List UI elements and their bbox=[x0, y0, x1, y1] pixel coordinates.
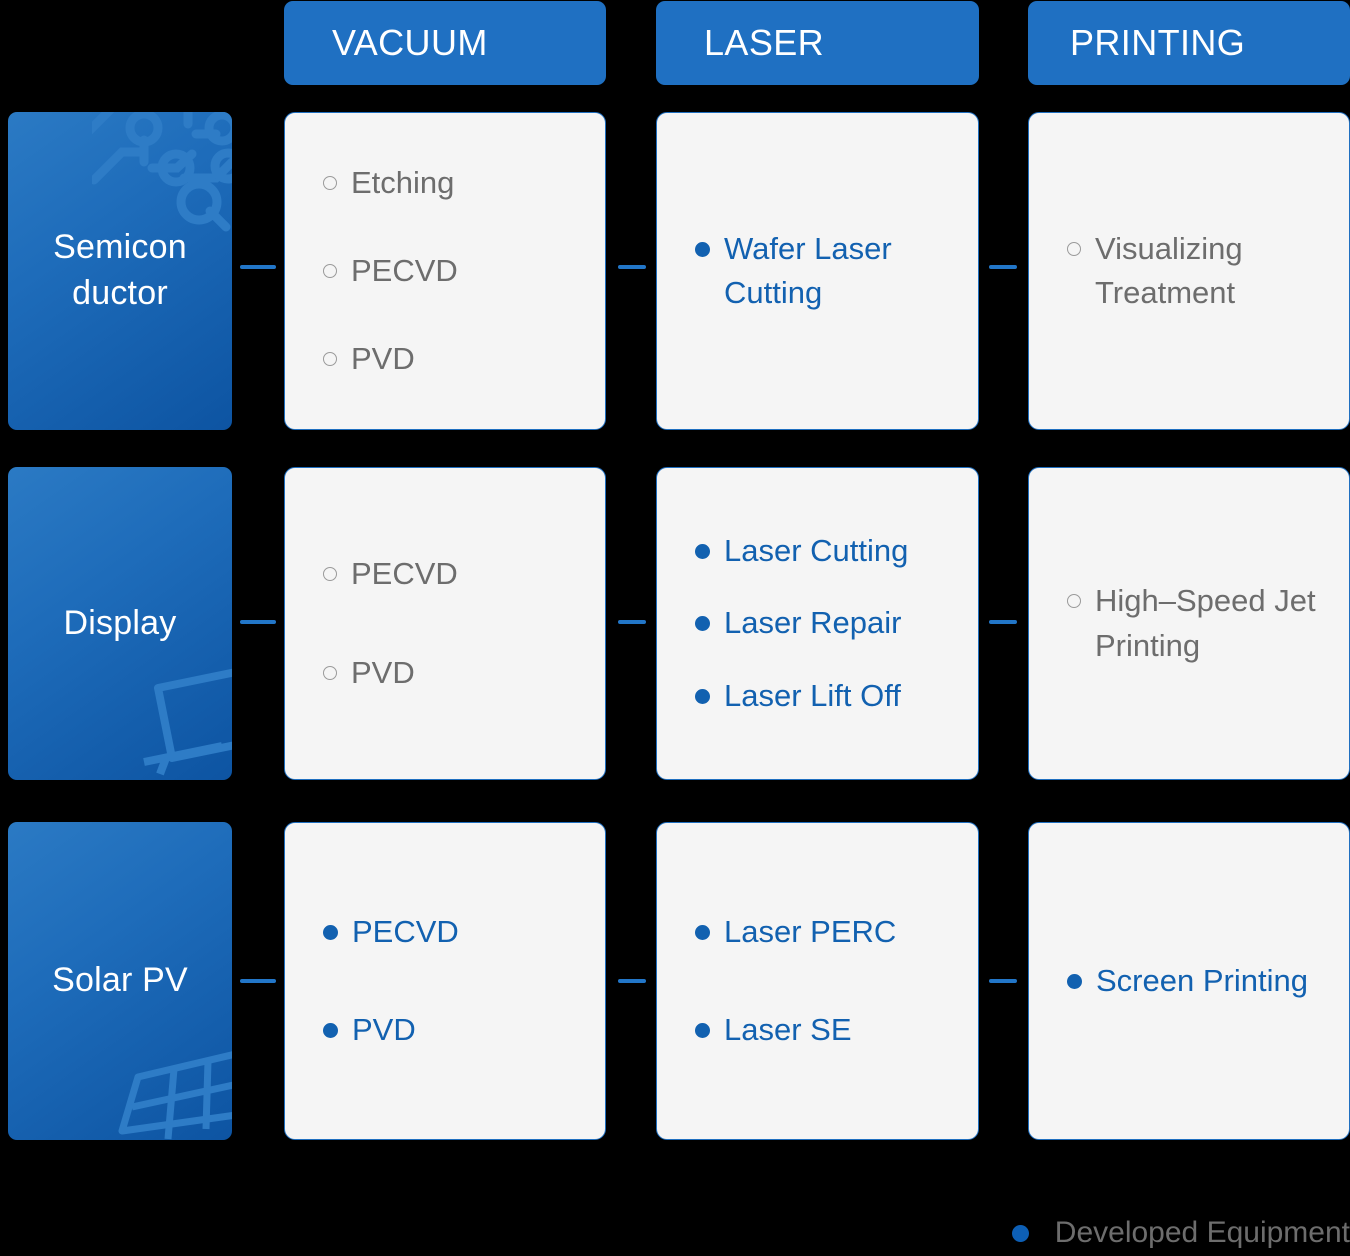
equipment-item: Screen Printing bbox=[1067, 959, 1323, 1003]
cell-semiconductor-vacuum[interactable]: EtchingPECVDPVD bbox=[284, 112, 606, 430]
equipment-item-label: Visualizing Treatment bbox=[1095, 227, 1323, 315]
equipment-list: PECVDPVD bbox=[323, 552, 579, 694]
connector-vacuum-laser bbox=[618, 620, 646, 624]
cell-display-laser[interactable]: Laser CuttingLaser RepairLaser Lift Off bbox=[656, 467, 979, 780]
filled-dot-icon bbox=[695, 616, 710, 631]
equipment-list: Wafer Laser Cutting bbox=[695, 227, 952, 315]
equipment-item: Laser Lift Off bbox=[695, 674, 952, 718]
column-header-label: VACUUM bbox=[332, 22, 488, 64]
connector-vacuum-laser bbox=[618, 265, 646, 269]
cell-solar-pv-vacuum[interactable]: PECVDPVD bbox=[284, 822, 606, 1140]
equipment-item: Wafer Laser Cutting bbox=[695, 227, 952, 315]
column-header-laser[interactable]: LASER bbox=[656, 1, 979, 85]
hollow-dot-icon bbox=[323, 352, 337, 366]
equipment-item-label: PVD bbox=[351, 651, 579, 695]
industry-tile-semiconductor[interactable]: Semiconductor bbox=[8, 112, 232, 430]
column-header-printing[interactable]: PRINTING bbox=[1028, 1, 1350, 85]
equipment-list: Laser CuttingLaser RepairLaser Lift Off bbox=[695, 529, 952, 717]
filled-dot-icon bbox=[695, 1023, 710, 1038]
equipment-item: PVD bbox=[323, 1008, 579, 1052]
filled-dot-icon bbox=[1067, 974, 1082, 989]
equipment-item: PVD bbox=[323, 651, 579, 695]
cell-semiconductor-laser[interactable]: Wafer Laser Cutting bbox=[656, 112, 979, 430]
equipment-item: Visualizing Treatment bbox=[1067, 227, 1323, 315]
connector-industry-vacuum bbox=[240, 979, 276, 983]
connector-industry-vacuum bbox=[240, 265, 276, 269]
cell-solar-pv-printing[interactable]: Screen Printing bbox=[1028, 822, 1350, 1140]
connector-laser-printing bbox=[989, 265, 1017, 269]
equipment-item-label: Laser PERC bbox=[724, 910, 952, 954]
equipment-item-label: Screen Printing bbox=[1096, 959, 1323, 1003]
equipment-item-label: PECVD bbox=[351, 249, 579, 293]
cell-display-vacuum[interactable]: PECVDPVD bbox=[284, 467, 606, 780]
equipment-item-label: PECVD bbox=[351, 552, 579, 596]
equipment-item-label: PECVD bbox=[352, 910, 579, 954]
connector-laser-printing bbox=[989, 979, 1017, 983]
hollow-dot-icon bbox=[323, 264, 337, 278]
solar-panel-icon bbox=[88, 1019, 232, 1140]
cell-solar-pv-laser[interactable]: Laser PERCLaser SE bbox=[656, 822, 979, 1140]
industry-tile-display[interactable]: Display bbox=[8, 467, 232, 780]
column-header-label: LASER bbox=[704, 22, 824, 64]
connector-laser-printing bbox=[989, 620, 1017, 624]
connector-vacuum-laser bbox=[618, 979, 646, 983]
filled-dot-icon bbox=[695, 544, 710, 559]
equipment-item-label: PVD bbox=[352, 1008, 579, 1052]
developed-equipment-dot-icon bbox=[1012, 1225, 1029, 1242]
equipment-item: PVD bbox=[323, 337, 579, 381]
column-header-label: PRINTING bbox=[1070, 22, 1245, 64]
equipment-item-label: PVD bbox=[351, 337, 579, 381]
hollow-dot-icon bbox=[323, 176, 337, 190]
filled-dot-icon bbox=[323, 925, 338, 940]
connector-industry-vacuum bbox=[240, 620, 276, 624]
industry-tile-label: Display bbox=[56, 601, 185, 647]
equipment-list: Visualizing Treatment bbox=[1067, 227, 1323, 315]
cell-display-printing[interactable]: High–Speed Jet Printing bbox=[1028, 467, 1350, 780]
filled-dot-icon bbox=[695, 689, 710, 704]
industry-tile-solar-pv[interactable]: Solar PV bbox=[8, 822, 232, 1140]
cell-semiconductor-printing[interactable]: Visualizing Treatment bbox=[1028, 112, 1350, 430]
equipment-item: Laser PERC bbox=[695, 910, 952, 954]
filled-dot-icon bbox=[695, 925, 710, 940]
equipment-list: EtchingPECVDPVD bbox=[323, 161, 579, 381]
equipment-item: PECVD bbox=[323, 249, 579, 293]
hollow-dot-icon bbox=[323, 666, 337, 680]
equipment-list: High–Speed Jet Printing bbox=[1067, 579, 1323, 667]
equipment-item: PECVD bbox=[323, 552, 579, 596]
filled-dot-icon bbox=[323, 1023, 338, 1038]
hollow-dot-icon bbox=[323, 567, 337, 581]
legend-label: Developed Equipment bbox=[1055, 1216, 1350, 1250]
legend: Developed Equipment bbox=[1012, 1216, 1350, 1250]
equipment-portfolio-matrix: VACUUM LASER PRINTING bbox=[0, 0, 1350, 1256]
equipment-item-label: Laser Lift Off bbox=[724, 674, 952, 718]
hollow-dot-icon bbox=[1067, 594, 1081, 608]
equipment-list: Screen Printing bbox=[1067, 959, 1323, 1003]
equipment-list: Laser PERCLaser SE bbox=[695, 910, 952, 1052]
equipment-item: Laser SE bbox=[695, 1008, 952, 1052]
equipment-item-label: Wafer Laser Cutting bbox=[724, 227, 952, 315]
monitor-icon bbox=[114, 666, 232, 776]
filled-dot-icon bbox=[695, 242, 710, 257]
equipment-item: Laser Repair bbox=[695, 601, 952, 645]
equipment-item-label: Laser SE bbox=[724, 1008, 952, 1052]
hollow-dot-icon bbox=[1067, 242, 1081, 256]
equipment-item: PECVD bbox=[323, 910, 579, 954]
equipment-item-label: High–Speed Jet Printing bbox=[1095, 579, 1323, 667]
equipment-item: High–Speed Jet Printing bbox=[1067, 579, 1323, 667]
industry-tile-label: Solar PV bbox=[44, 958, 196, 1004]
equipment-item-label: Laser Cutting bbox=[724, 529, 952, 573]
column-header-vacuum[interactable]: VACUUM bbox=[284, 1, 606, 85]
equipment-item-label: Etching bbox=[351, 161, 579, 205]
equipment-list: PECVDPVD bbox=[323, 910, 579, 1052]
equipment-item-label: Laser Repair bbox=[724, 601, 952, 645]
equipment-item: Etching bbox=[323, 161, 579, 205]
industry-tile-label: Semiconductor bbox=[45, 225, 195, 316]
equipment-item: Laser Cutting bbox=[695, 529, 952, 573]
